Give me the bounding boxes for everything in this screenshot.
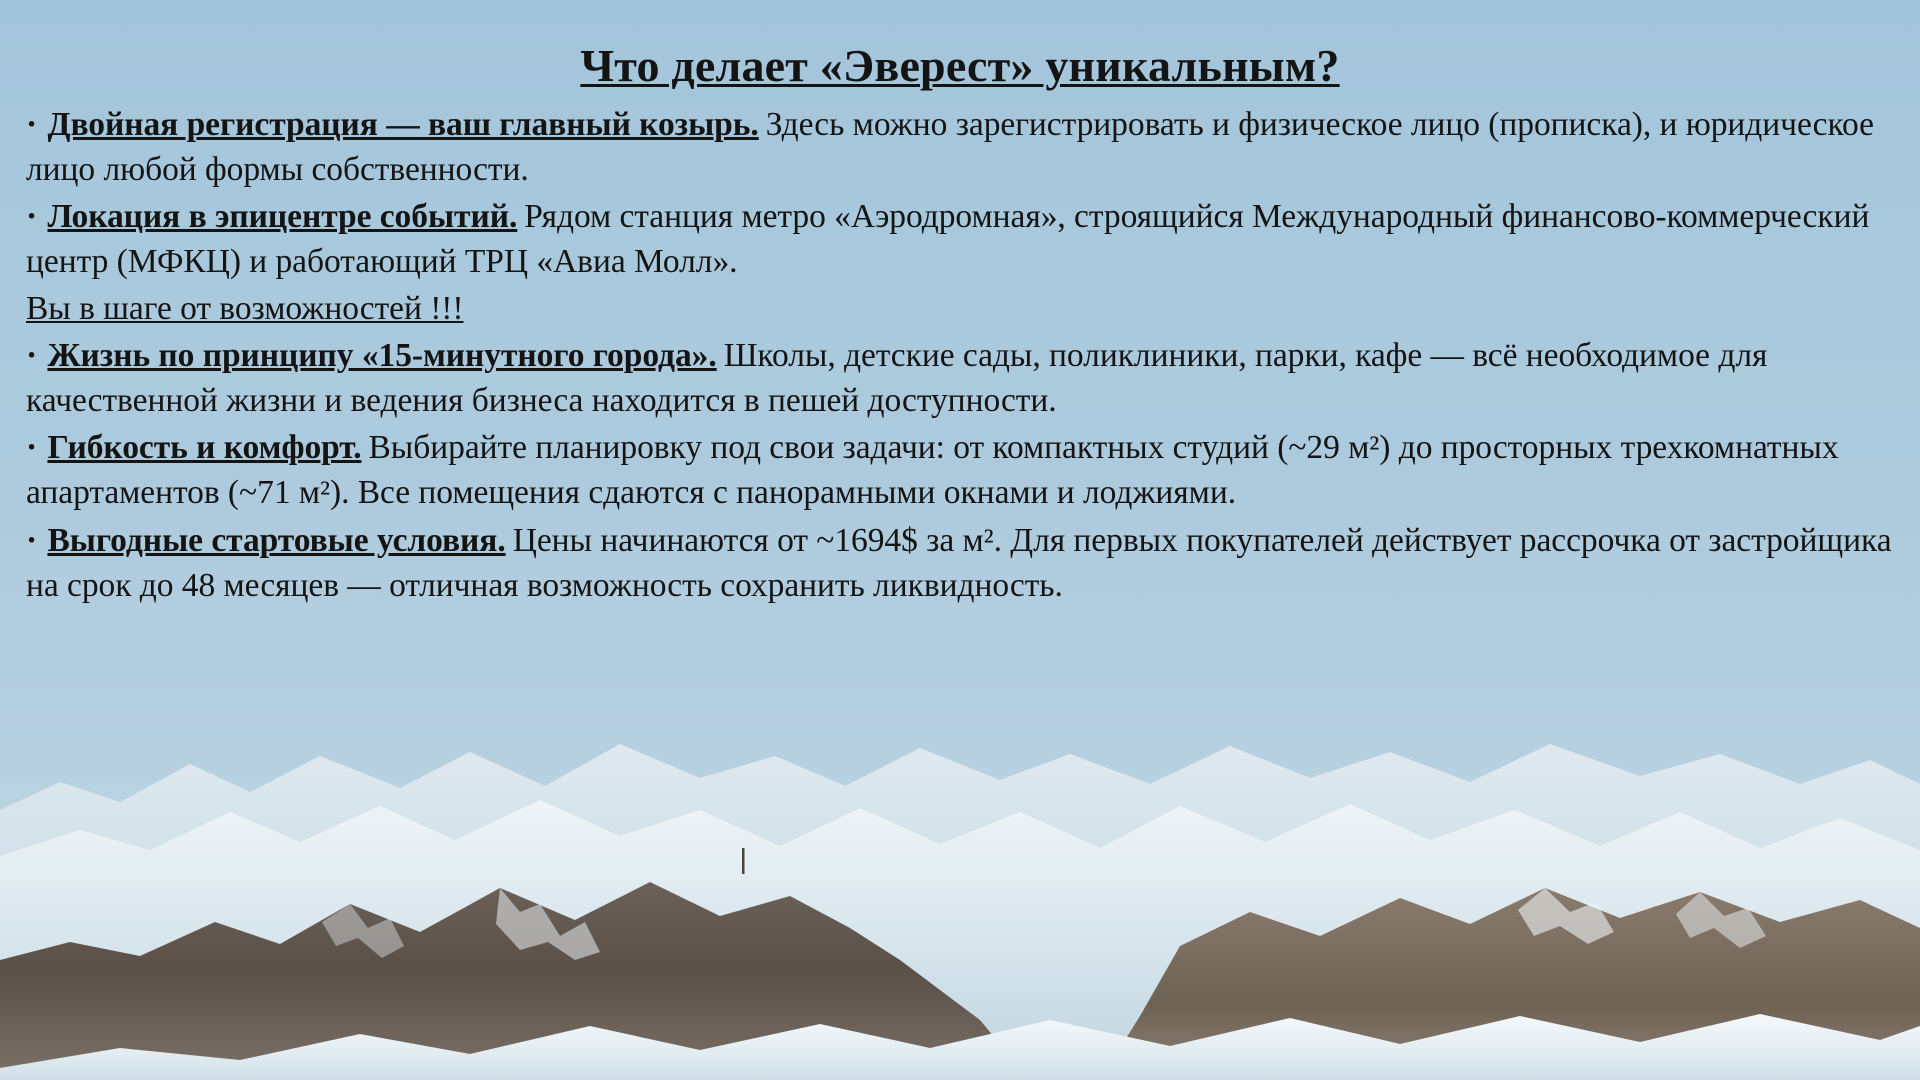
benefits-list: · Двойная регистрация — ваш главный козы… [26,102,1894,608]
bullet-lead-dual-registration: Двойная регистрация — ваш главный козырь… [47,106,758,143]
callout-line: Вы в шаге от возможностей !!! [26,286,1894,331]
bullet-lead-fifteen-minute-city: Жизнь по принципу «15-минутного города». [47,337,716,374]
bullet-marker-icon: · [26,522,39,559]
list-item: · Двойная регистрация — ваш главный козы… [26,102,1894,192]
list-item: · Гибкость и комфорт.Выбирайте планировк… [26,425,1894,515]
page-title: Что делает «Эверест» уникальным? [26,38,1894,94]
list-item: · Выгодные стартовые условия.Цены начина… [26,518,1894,608]
bullet-lead-starting-terms: Выгодные стартовые условия. [47,522,505,559]
bullet-lead-flexibility: Гибкость и комфорт. [47,429,361,466]
bullet-marker-icon: · [26,198,39,235]
bullet-marker-icon: · [26,337,39,374]
presentation-slide: Что делает «Эверест» уникальным? · Двойн… [0,0,1920,1080]
list-item: · Локация в эпицентре событий.Рядом стан… [26,194,1894,284]
mountain-range-photo [0,660,1920,1080]
callout-text: Вы в шаге от возможностей !!! [26,290,464,327]
callout-paragraph: Вы в шаге от возможностей !!! [26,286,1894,331]
slide-content: Что делает «Эверест» уникальным? · Двойн… [0,0,1920,610]
bullet-lead-location: Локация в эпицентре событий. [47,198,517,235]
bullet-marker-icon: · [26,106,39,143]
list-item: · Жизнь по принципу «15-минутного города… [26,333,1894,423]
bullet-marker-icon: · [26,429,39,466]
